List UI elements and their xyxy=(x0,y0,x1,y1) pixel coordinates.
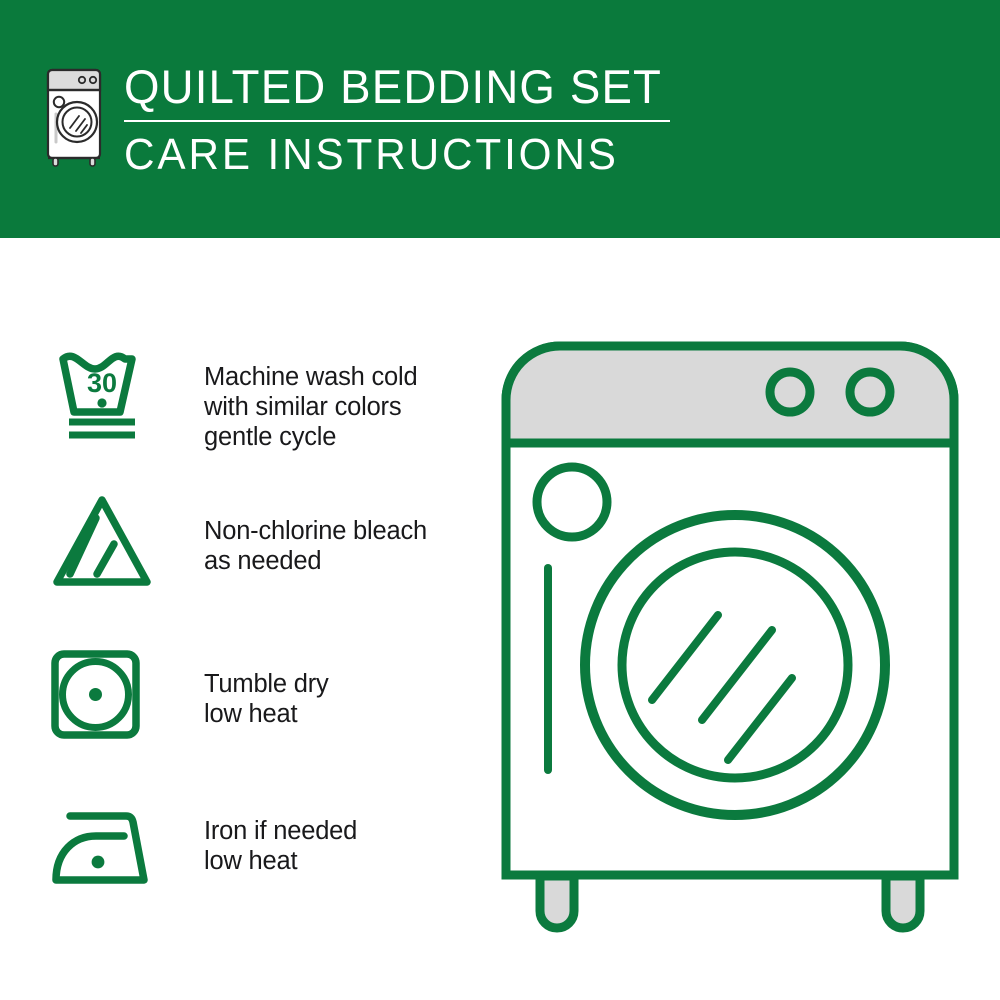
header-content: QUILTED BEDDING SET CARE INSTRUCTIONS xyxy=(42,62,679,179)
care-instructions-list: 30 Machine wash cold with similar colors… xyxy=(0,238,470,1000)
machine-leg-right xyxy=(886,876,920,928)
title-block: QUILTED BEDDING SET CARE INSTRUCTIONS xyxy=(124,62,679,179)
care-item-iron-label: Iron if needed low heat xyxy=(204,816,357,876)
wash-tub-30-icon: 30 xyxy=(48,346,156,446)
washing-machine-illustration xyxy=(480,320,980,960)
care-item-bleach: Non-chlorine bleach as needed xyxy=(48,486,427,592)
page-subtitle: CARE INSTRUCTIONS xyxy=(124,131,656,179)
machine-leg-left xyxy=(540,876,574,928)
front-load-washing-machine-illustration xyxy=(480,320,980,960)
care-item-tumble-dry-label: Tumble dry low heat xyxy=(204,669,329,729)
washing-machine-icon xyxy=(42,64,106,172)
care-item-wash: 30 Machine wash cold with similar colors… xyxy=(48,346,417,452)
page-title: QUILTED BEDDING SET xyxy=(124,62,662,118)
tumble-dry-low-icon xyxy=(48,647,143,742)
care-item-tumble-dry: Tumble dry low heat xyxy=(48,643,329,742)
header-banner: QUILTED BEDDING SET CARE INSTRUCTIONS xyxy=(0,0,1000,238)
bleach-triangle-icon xyxy=(48,492,156,592)
care-item-bleach-label: Non-chlorine bleach as needed xyxy=(204,516,427,576)
care-item-iron: Iron if needed low heat xyxy=(48,794,357,894)
title-divider xyxy=(124,120,670,122)
iron-low-heat-icon xyxy=(48,802,156,894)
care-item-wash-label: Machine wash cold with similar colors ge… xyxy=(204,362,417,452)
wash-temperature-label: 30 xyxy=(87,368,117,398)
